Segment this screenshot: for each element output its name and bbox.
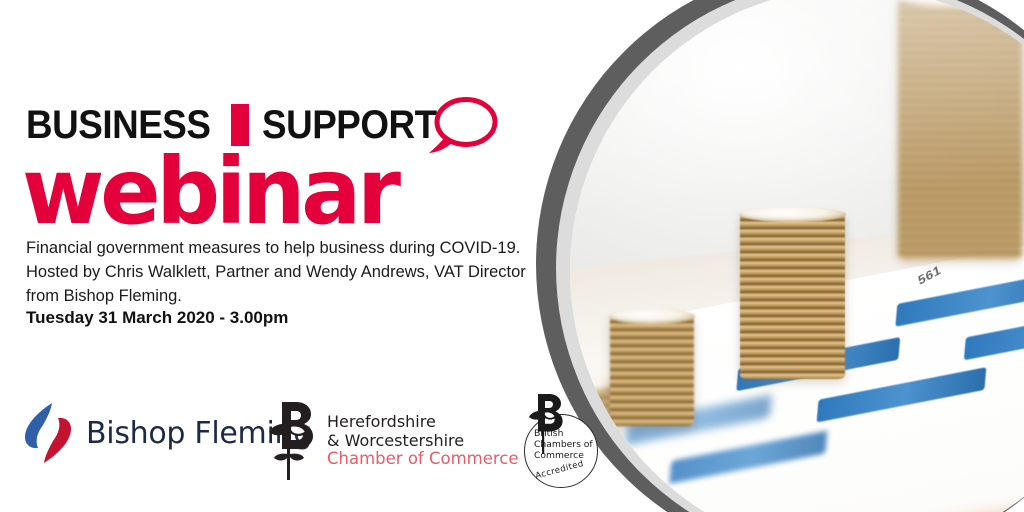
hw-chamber-line-2: & Worcestershire <box>327 432 519 451</box>
hw-chamber-line-3: Chamber of Commerce <box>327 450 519 469</box>
chart-bar <box>669 431 827 484</box>
coin-stack <box>610 316 694 426</box>
body-line-3: from Bishop Fleming. <box>26 284 536 308</box>
hw-chamber-wordmark: Herefordshire & Worcestershire Chamber o… <box>327 413 519 469</box>
headline-word-webinar: webinar <box>22 146 397 238</box>
business-support-webinar-banner: 556 561 BUSINESS SUPPORT webinar Financi… <box>0 0 1024 512</box>
hw-chamber-line-1: Herefordshire <box>327 413 519 432</box>
chart-bar <box>895 269 1024 327</box>
coin-stack <box>898 0 1022 259</box>
coin-stack <box>740 214 845 379</box>
bcc-wordmark: British Chambers of Commerce <box>534 428 593 462</box>
partner-logo-row: Bishop Fleming Herefordshire & Worcester… <box>0 386 620 498</box>
body-line-1: Financial government measures to help bu… <box>26 236 536 260</box>
event-date-time: Tuesday 31 March 2020 - 3.00pm <box>26 308 288 328</box>
body-copy: Financial government measures to help bu… <box>26 236 536 308</box>
bcc-line-2: Chambers of <box>534 439 593 450</box>
hw-chamber-logo: Herefordshire & Worcestershire Chamber o… <box>264 398 519 484</box>
body-line-2: Hosted by Chris Walklett, Partner and We… <box>26 260 536 284</box>
bishop-fleming-swoosh-icon <box>22 400 74 466</box>
bcc-line-3: Commerce <box>534 450 593 461</box>
coins-chart-photo: 556 561 <box>570 0 1024 512</box>
chart-bar-label: 561 <box>916 262 942 288</box>
chamber-b-leaf-icon <box>264 398 316 484</box>
speech-bubble-icon <box>424 96 500 158</box>
bcc-line-1: British <box>534 428 593 439</box>
chart-highlight-blob <box>811 494 1024 512</box>
bcc-accredited-logo: British Chambers of Commerce Accredited <box>512 392 604 492</box>
